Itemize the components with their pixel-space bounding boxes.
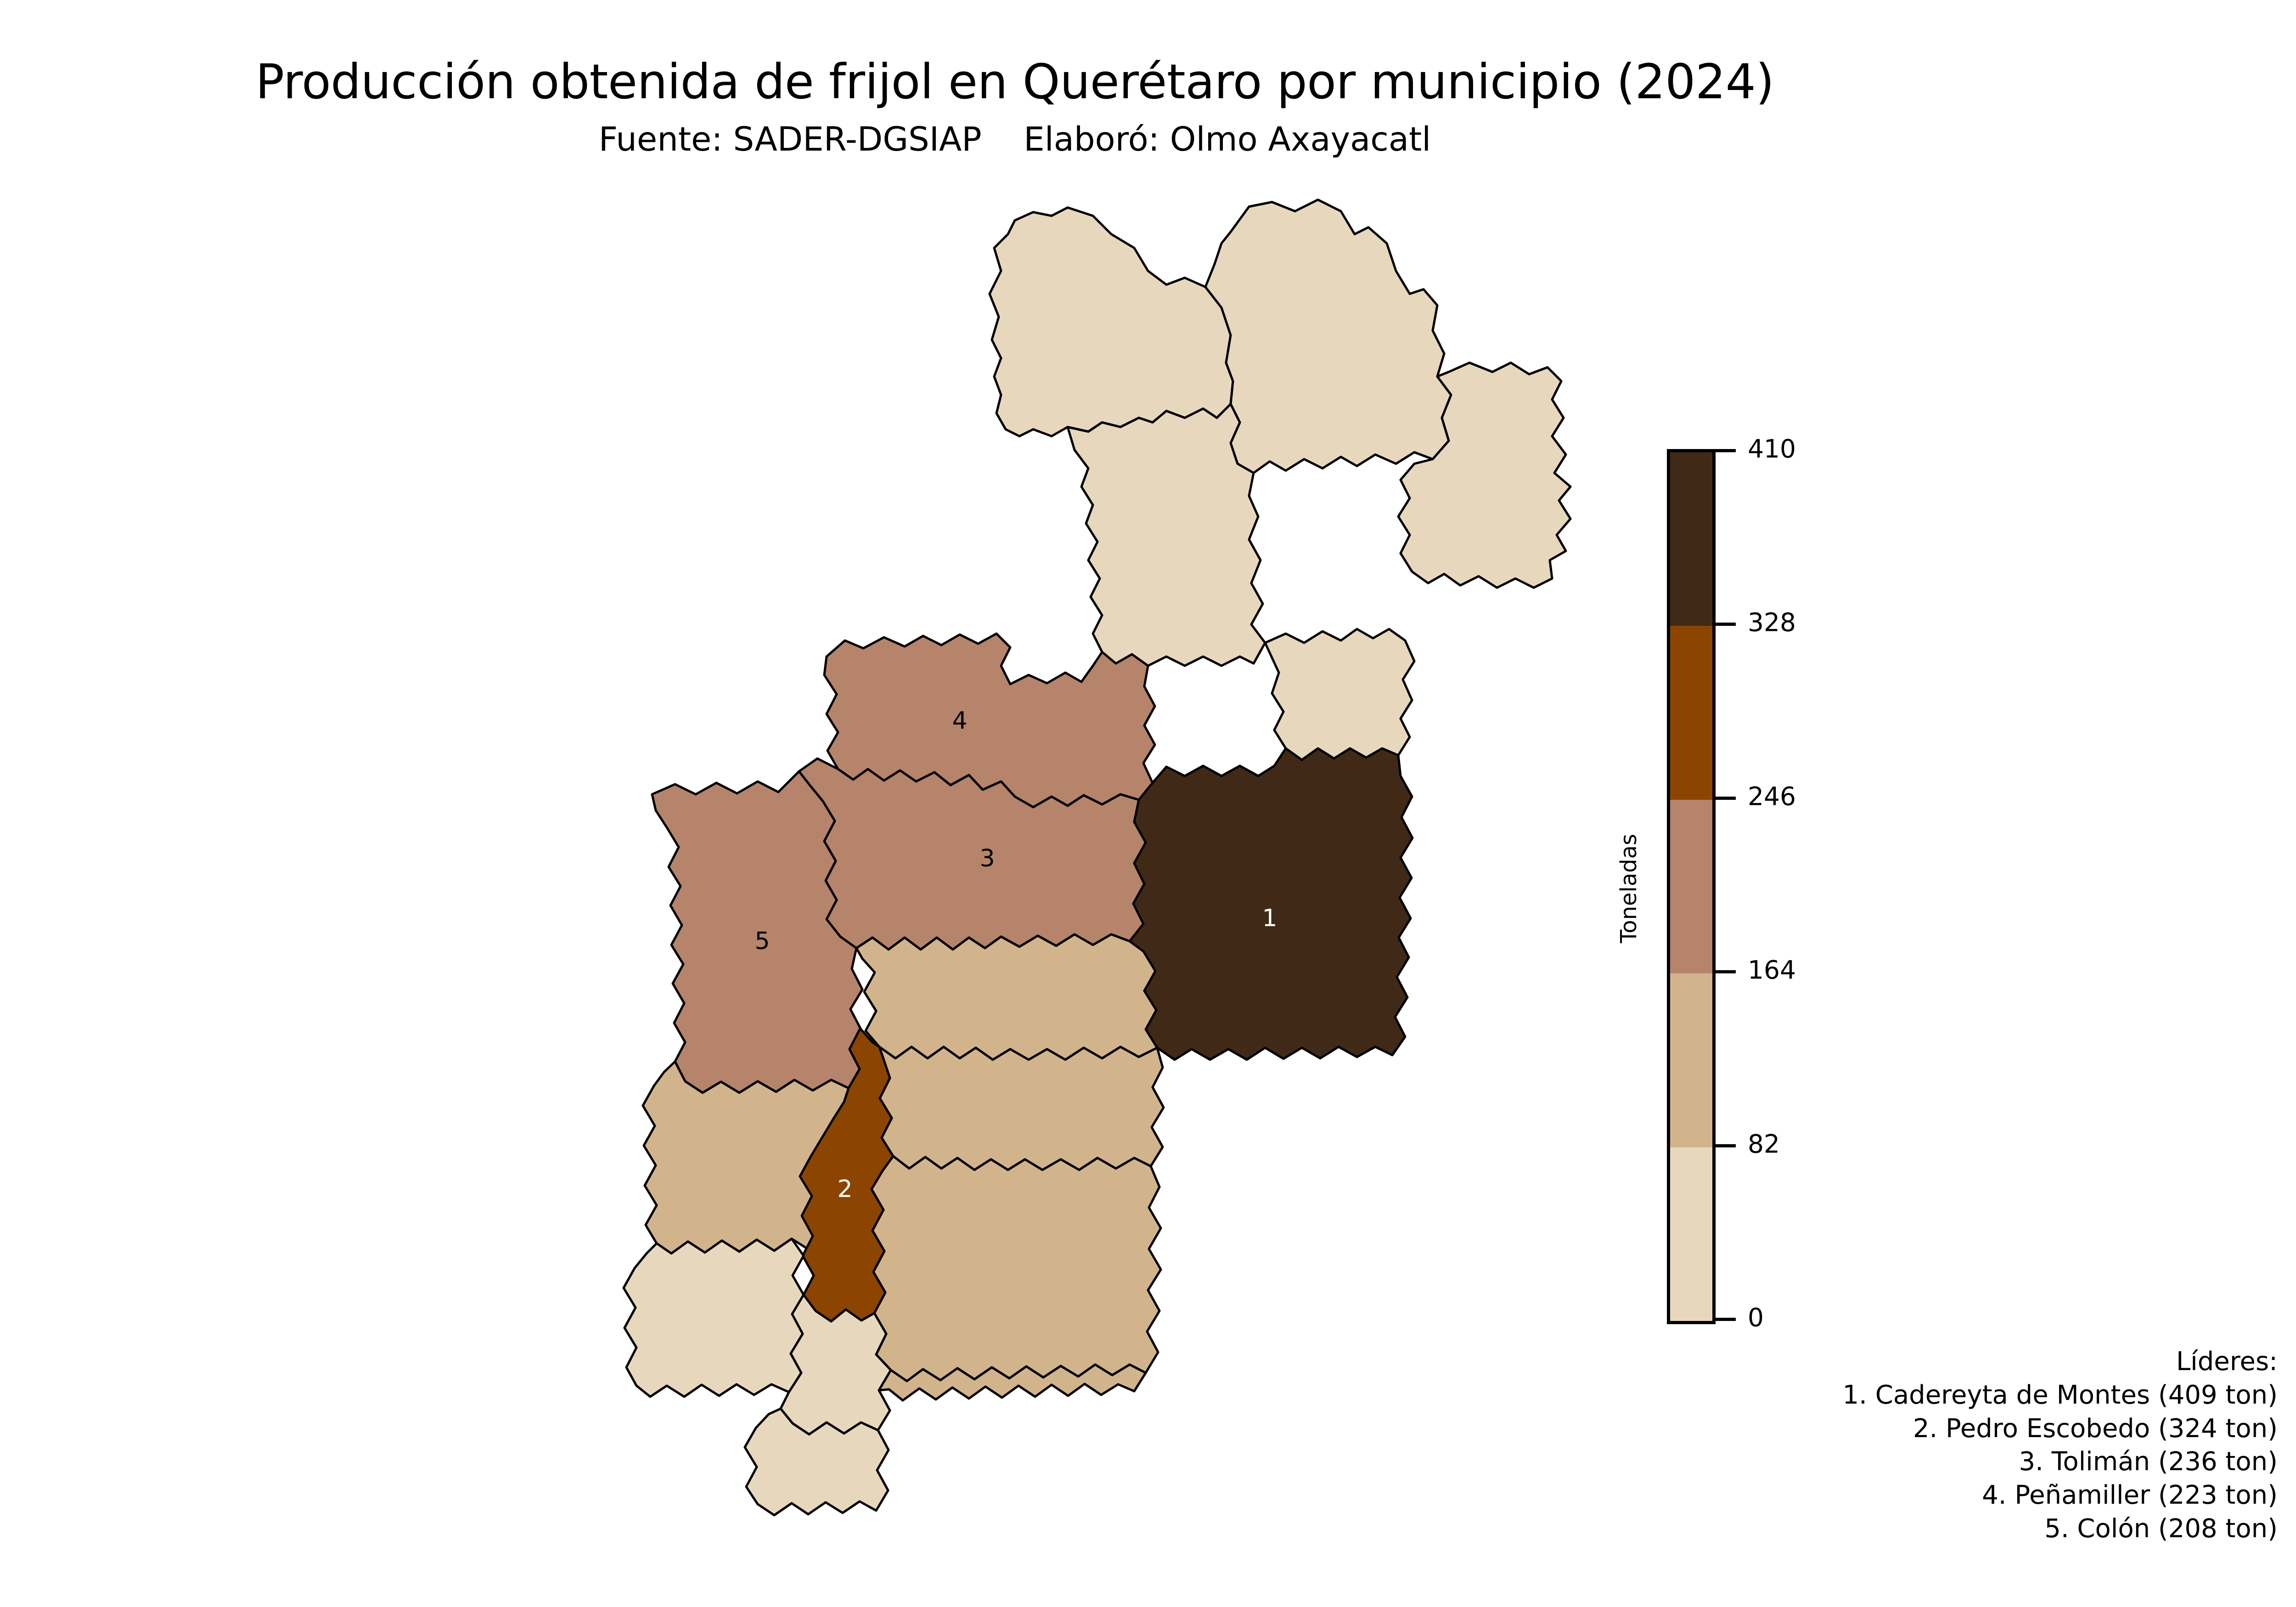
leaders-item-5: 5. Colón (208 ton)	[1359, 1512, 2278, 1546]
map-label-4: 4	[952, 707, 967, 735]
colorbar-tick-label-82: 82	[1748, 1132, 1780, 1157]
leaders-item-4: 4. Peñamiller (223 ton)	[1359, 1479, 2278, 1512]
region-ezequiel-montes[interactable]	[856, 934, 1157, 1060]
colorbar-segment-3	[1670, 626, 1712, 799]
colorbar-axis-label: Toneladas	[1616, 834, 1642, 943]
colorbar-tick-label-410: 410	[1748, 437, 1796, 462]
region-arroyo-seco[interactable]	[990, 208, 1233, 436]
region-cadereyta-de-montes[interactable]	[1130, 748, 1412, 1060]
map-svg: 1 2 3 4 5	[358, 179, 1589, 1538]
title-block: Producción obtenida de frijol en Queréta…	[0, 55, 2030, 158]
region-tequisquiapan[interactable]	[879, 1047, 1164, 1170]
map-label-1: 1	[1262, 905, 1277, 932]
colorbar-segment-4	[1670, 452, 1712, 626]
colorbar-tick-label-328: 328	[1748, 610, 1796, 635]
colorbar-segment-2	[1670, 800, 1712, 973]
colorbar: Toneladas 410 328 246 164 82 0	[1616, 432, 1975, 1345]
colorbar-gradient[interactable]	[1667, 449, 1716, 1324]
colorbar-tick-164	[1716, 970, 1736, 973]
colorbar-tick-label-164: 164	[1748, 958, 1796, 983]
colorbar-segment-1	[1670, 973, 1712, 1147]
colorbar-tick-328	[1716, 623, 1736, 626]
leaders-item-3: 3. Tolimán (236 ton)	[1359, 1445, 2278, 1479]
region-corregidora[interactable]	[624, 1239, 804, 1397]
leaders-heading: Líderes:	[1359, 1345, 2278, 1379]
leaders-item-2: 2. Pedro Escobedo (324 ton)	[1359, 1412, 2278, 1446]
colorbar-tick-label-246: 246	[1748, 784, 1796, 809]
map-label-2: 2	[837, 1175, 852, 1203]
colorbar-tick-0	[1716, 1318, 1736, 1321]
colorbar-tick-82	[1716, 1144, 1736, 1147]
region-jalpan-de-serra[interactable]	[1205, 200, 1451, 473]
page-title: Producción obtenida de frijol en Queréta…	[0, 55, 2030, 108]
leaders-annotation: Líderes: 1. Cadereyta de Montes (409 ton…	[1359, 1345, 2278, 1546]
map-label-5: 5	[754, 927, 770, 955]
colorbar-segment-0	[1670, 1147, 1712, 1321]
map-label-3: 3	[979, 845, 995, 872]
figure-canvas: Producción obtenida de frijol en Queréta…	[0, 0, 2296, 1607]
colorbar-tick-246	[1716, 797, 1736, 800]
page-subtitle: Fuente: SADER-DGSIAP Elaboró: Olmo Axaya…	[0, 120, 2030, 158]
region-san-joaquin[interactable]	[1265, 629, 1414, 760]
colorbar-tick-410	[1716, 449, 1736, 452]
leaders-item-1: 1. Cadereyta de Montes (409 ton)	[1359, 1379, 2278, 1412]
region-el-marques[interactable]	[872, 1156, 1161, 1381]
colorbar-tick-label-0: 0	[1748, 1305, 1764, 1331]
choropleth-map: 1 2 3 4 5	[358, 179, 1589, 1538]
